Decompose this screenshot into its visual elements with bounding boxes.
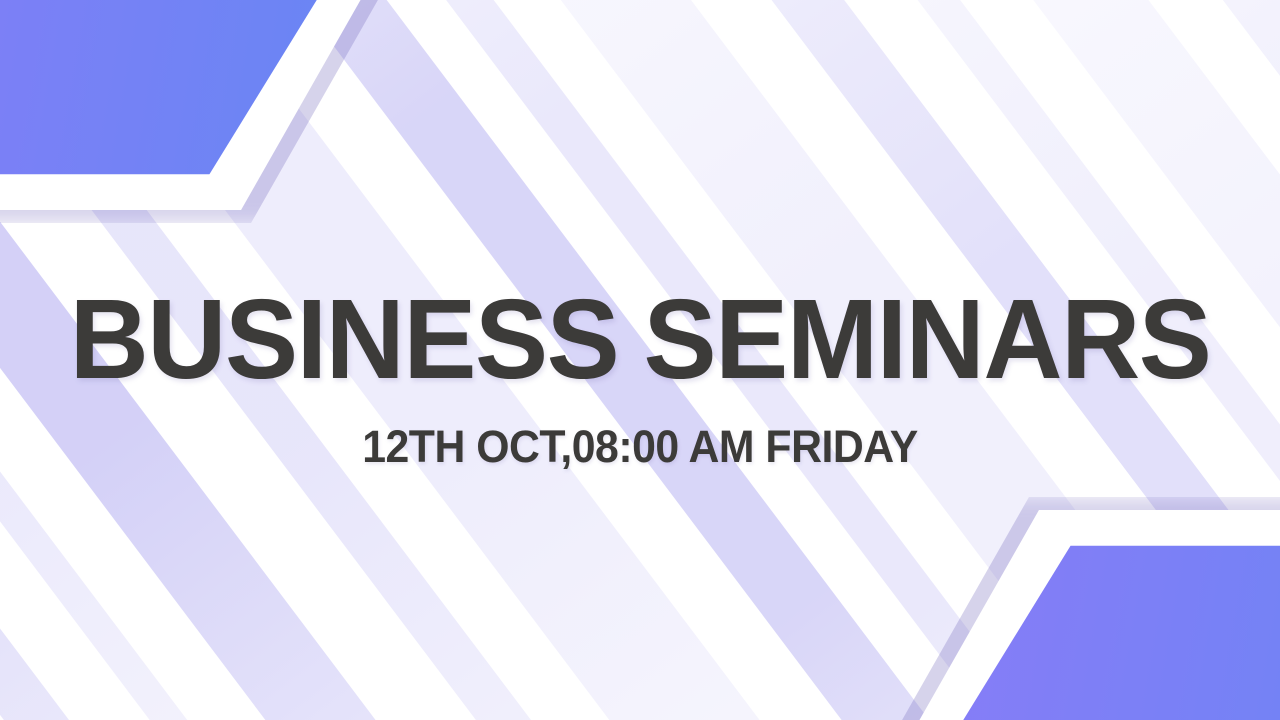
page-title: BUSINESSSEMINARS [19, 283, 1261, 396]
event-poster: BUSINESSSEMINARS 12TH OCT,08:00 AM FRIDA… [0, 0, 1280, 720]
event-datetime-subtitle: 12TH OCT,08:00 AM FRIDAY [32, 424, 1248, 469]
bottom-right-gradient-block [800, 510, 1280, 720]
title-word-seminars: SEMINARS [644, 276, 1211, 402]
top-left-gradient-block [0, 0, 480, 210]
title-word-business: BUSINESS [70, 276, 619, 402]
poster-text-block: BUSINESSSEMINARS 12TH OCT,08:00 AM FRIDA… [0, 283, 1280, 469]
